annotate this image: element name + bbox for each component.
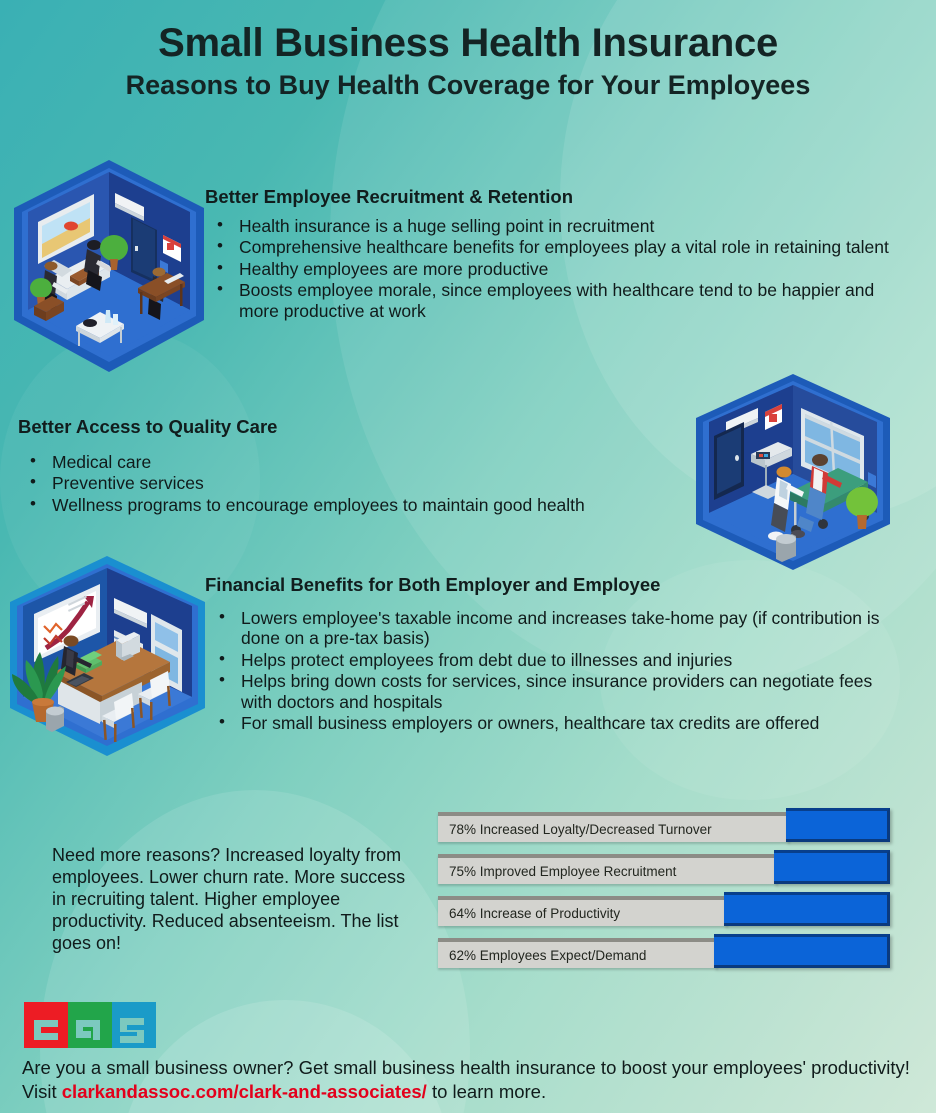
list-item: Preventive services <box>18 473 708 493</box>
header: Small Business Health Insurance Reasons … <box>0 22 936 101</box>
exam-room-illustration <box>696 374 890 570</box>
chart-bar-row: 62% Employees Expect/Demand <box>438 934 890 968</box>
section-heading: Financial Benefits for Both Employer and… <box>205 574 905 596</box>
section-heading: Better Employee Recruitment & Retention <box>205 186 905 208</box>
footer-cta: Are you a small business owner? Get smal… <box>22 1056 922 1103</box>
chart-bar-label: 75% Improved Employee Recruitment <box>438 854 778 884</box>
chart-bar-label: 62% Employees Expect/Demand <box>438 938 718 968</box>
list-item: Medical care <box>18 452 708 472</box>
more-reasons-blurb: Need more reasons? Increased loyalty fro… <box>52 845 424 955</box>
waiting-room-illustration <box>14 160 204 372</box>
list-item: Helps protect employees from debt due to… <box>205 650 905 670</box>
chart-bar-label: 78% Increased Loyalty/Decreased Turnover <box>438 812 790 842</box>
section-access-quality-care: Better Access to Quality Care Medical ca… <box>18 416 708 516</box>
page-title: Small Business Health Insurance <box>0 22 936 65</box>
chart-bar-fill <box>714 934 890 968</box>
chart-bar-row: 75% Improved Employee Recruitment <box>438 850 890 884</box>
section-bullet-list: Health insurance is a huge selling point… <box>205 216 905 321</box>
section-bullet-list: Medical care Preventive services Wellnes… <box>18 452 708 515</box>
chart-bar-fill <box>786 808 890 842</box>
section-financial-benefits: Financial Benefits for Both Employer and… <box>205 574 905 735</box>
section-bullet-list: Lowers employee's taxable income and inc… <box>205 608 905 734</box>
list-item: Healthy employees are more productive <box>205 259 905 279</box>
list-item: Comprehensive healthcare benefits for em… <box>205 237 905 257</box>
chart-bar-fill <box>774 850 890 884</box>
footer-text-after: to learn more. <box>427 1081 546 1102</box>
list-item: Lowers employee's taxable income and inc… <box>205 608 905 649</box>
footer-url-link[interactable]: clarkandassoc.com/clark-and-associates/ <box>62 1081 427 1102</box>
list-item: Helps bring down costs for services, sin… <box>205 671 905 712</box>
clark-and-associates-logo[interactable] <box>24 1002 156 1048</box>
page-subtitle: Reasons to Buy Health Coverage for Your … <box>0 71 936 101</box>
list-item: Wellness programs to encourage employees… <box>18 495 708 515</box>
list-item: Health insurance is a huge selling point… <box>205 216 905 236</box>
list-item: Boosts employee morale, since employees … <box>205 280 905 321</box>
list-item: For small business employers or owners, … <box>205 713 905 733</box>
office-desk-illustration <box>10 556 205 756</box>
statistics-bar-chart: 78% Increased Loyalty/Decreased Turnover… <box>438 808 890 976</box>
chart-bar-row: 64% Increase of Productivity <box>438 892 890 926</box>
chart-bar-fill <box>724 892 890 926</box>
chart-bar-label: 64% Increase of Productivity <box>438 896 728 926</box>
section-heading: Better Access to Quality Care <box>18 416 708 438</box>
section-recruitment-retention: Better Employee Recruitment & Retention … <box>205 186 905 322</box>
infographic-page: Small Business Health Insurance Reasons … <box>0 0 936 1113</box>
chart-bar-row: 78% Increased Loyalty/Decreased Turnover <box>438 808 890 842</box>
